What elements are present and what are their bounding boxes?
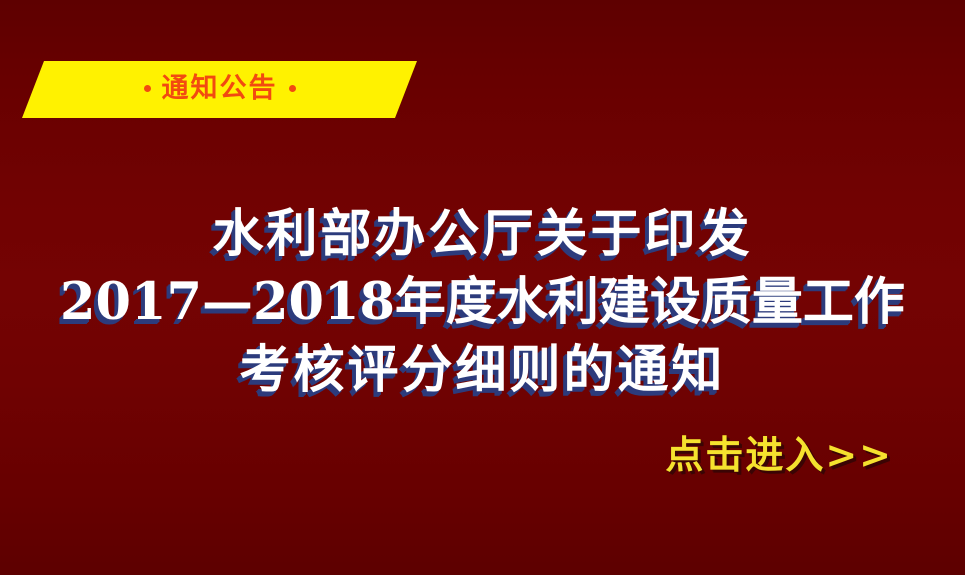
cta-row[interactable]: 点击进入>>	[665, 436, 893, 474]
page-title-line-2: 2017—2018年度水利建设质量工作	[0, 277, 965, 328]
page-title-line-1: 水利部办公厅关于印发	[0, 209, 965, 260]
ribbon-label: 通知公告	[162, 75, 278, 102]
ribbon-content: 通知公告	[22, 61, 417, 118]
dot-separator-icon-left	[144, 85, 151, 92]
enter-link[interactable]: 点击进入>>	[665, 436, 893, 474]
page-title: 水利部办公厅关于印发 2017—2018年度水利建设质量工作 考核评分细则的通知	[0, 209, 965, 396]
notice-announcement-promo-card[interactable]: 通知公告 水利部办公厅关于印发 2017—2018年度水利建设质量工作 考核评分…	[0, 0, 965, 575]
page-title-line-3: 考核评分细则的通知	[0, 345, 965, 396]
category-ribbon: 通知公告	[22, 61, 417, 118]
dot-separator-icon-right	[289, 85, 296, 92]
